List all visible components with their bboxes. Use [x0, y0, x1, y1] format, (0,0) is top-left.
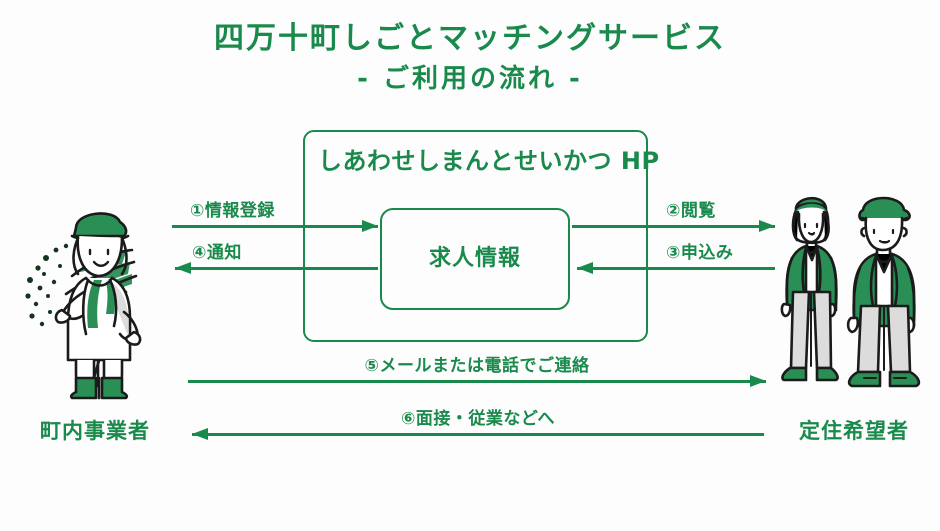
left-endpoint-caption: 町内事業者	[15, 418, 175, 444]
arrow-line	[188, 380, 766, 383]
arrow-head-right	[759, 220, 775, 232]
arrow-label-step-1: ①情報登録	[190, 201, 275, 222]
arrow-line	[572, 225, 775, 228]
arrow-line	[172, 225, 378, 228]
job-info-box-label: 求人情報	[380, 245, 570, 273]
page-subtitle: - ご利用の流れ -	[0, 64, 940, 94]
arrow-head-right	[362, 220, 378, 232]
arrow-line	[192, 433, 764, 436]
farmer-illustration	[14, 192, 176, 404]
flow-diagram-canvas: 四万十町しごとマッチングサービス - ご利用の流れ - しあわせしまんとせいかつ…	[0, 0, 940, 531]
right-endpoint-caption: 定住希望者	[768, 418, 940, 444]
arrow-label-step-3: ③申込み	[666, 243, 733, 264]
hp-box-label: しあわせしまんとせいかつ HP	[318, 146, 660, 176]
arrow-head-left	[175, 262, 191, 274]
arrow-line	[577, 267, 775, 270]
two-people-illustration	[776, 188, 932, 404]
arrow-head-left	[577, 262, 593, 274]
arrow-label-step-5: ⑤メールまたは電話でご連絡	[188, 356, 766, 377]
page-title: 四万十町しごとマッチングサービス	[0, 22, 940, 56]
arrow-label-step-6: ⑥面接・従業などへ	[192, 409, 764, 430]
arrow-line	[175, 267, 378, 270]
arrow-label-step-2: ②閲覧	[666, 201, 716, 222]
arrow-label-step-4: ④通知	[192, 243, 242, 264]
